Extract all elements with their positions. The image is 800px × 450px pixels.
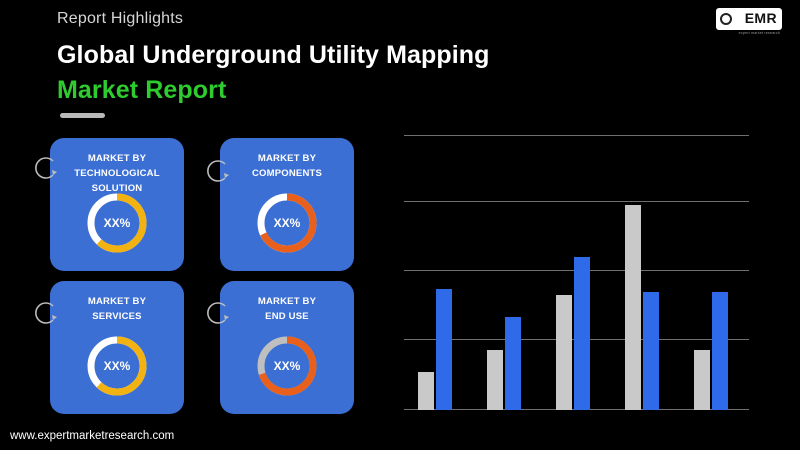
donut-chart: XX%: [254, 333, 320, 399]
donut-value: XX%: [84, 359, 150, 373]
slide-root: Report Highlights Global Underground Uti…: [0, 0, 800, 450]
card-title: MARKET BY SERVICES: [50, 294, 184, 324]
card-title-line1: MARKET BY: [88, 296, 146, 307]
card-title-line2: END USE: [265, 311, 309, 322]
refresh-icon: [205, 158, 231, 184]
bar-grey-5: [694, 350, 710, 410]
logo-text: EMR: [745, 10, 777, 26]
donut-value: XX%: [254, 359, 320, 373]
donut-chart: XX%: [254, 190, 320, 256]
footer-url: www.expertmarketresearch.com: [10, 430, 174, 442]
card-title-line2: SERVICES: [92, 311, 141, 322]
logo-mark-icon: [720, 13, 732, 25]
bar-grey-2: [487, 350, 503, 410]
page-title-accent: Market Report: [57, 76, 226, 105]
bar-grey-1: [418, 372, 434, 410]
bar-blue-2: [505, 317, 521, 410]
card-title-line1: MARKET BY: [258, 296, 316, 307]
bar-chart: [404, 135, 749, 410]
donut-value: XX%: [254, 216, 320, 230]
bar-blue-4: [643, 292, 659, 410]
card-market-by-technological-solution[interactable]: MARKET BY TECHNOLOGICAL SOLUTION XX%: [50, 138, 184, 271]
card-title: MARKET BY COMPONENTS: [220, 151, 354, 181]
refresh-icon: [33, 155, 59, 181]
refresh-icon: [33, 300, 59, 326]
gridline: [404, 135, 749, 136]
refresh-icon: [205, 300, 231, 326]
page-title: Global Underground Utility Mapping: [57, 41, 490, 70]
card-title-line2: COMPONENTS: [252, 168, 322, 179]
bar-blue-1: [436, 289, 452, 410]
gridline: [404, 201, 749, 202]
card-market-by-end-use[interactable]: MARKET BY END USE XX%: [220, 281, 354, 414]
bar-grey-3: [556, 295, 572, 410]
bar-grey-4: [625, 205, 641, 411]
bar-blue-5: [712, 292, 728, 410]
donut-chart: XX%: [84, 190, 150, 256]
page-eyebrow: Report Highlights: [57, 10, 183, 28]
card-market-by-components[interactable]: MARKET BY COMPONENTS XX%: [220, 138, 354, 271]
bar-blue-3: [574, 257, 590, 410]
card-title: MARKET BY END USE: [220, 294, 354, 324]
emr-logo: EMR expert market research: [716, 8, 782, 38]
title-underline: [60, 113, 105, 118]
card-title-line1: MARKET BY: [88, 153, 146, 164]
card-title-line1: MARKET BY: [258, 153, 316, 164]
card-market-by-services[interactable]: MARKET BY SERVICES XX%: [50, 281, 184, 414]
donut-value: XX%: [84, 216, 150, 230]
donut-chart: XX%: [84, 333, 150, 399]
logo-tagline: expert market research: [739, 31, 780, 35]
